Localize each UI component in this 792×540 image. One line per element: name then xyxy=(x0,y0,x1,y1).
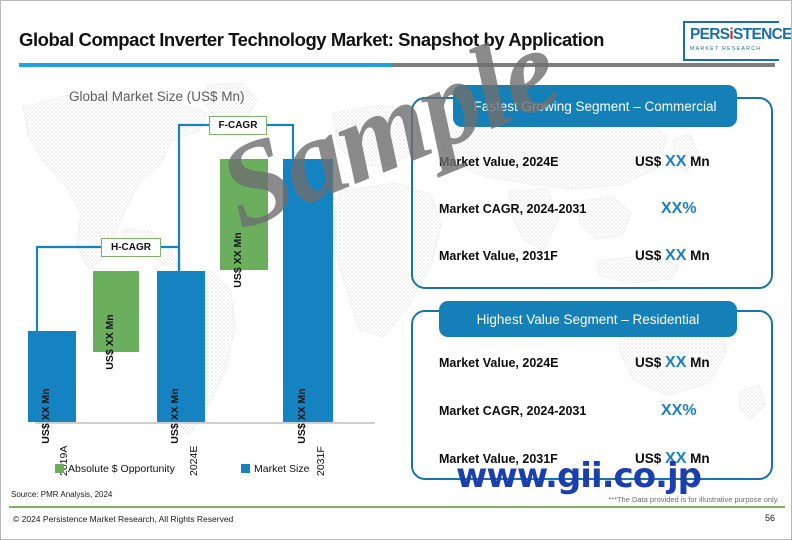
row-value-number: XX xyxy=(665,153,686,170)
page-number: 56 xyxy=(765,513,775,523)
copyright-note: © 2024 Persistence Market Research, All … xyxy=(13,514,233,524)
disclaimer-note: ***The Data provided is for illustrative… xyxy=(608,495,779,504)
logo-tagline: MARKET RESEARCH xyxy=(690,46,779,52)
row-value-suffix: Mn xyxy=(686,154,709,169)
cagr-connectors xyxy=(13,81,403,481)
row-value: XX% xyxy=(661,402,697,420)
row-value-prefix: US$ xyxy=(635,248,665,263)
persistence-market-research-logo: PERSiSTENCE MARKET RESEARCH xyxy=(683,21,779,61)
row-value-number: XX% xyxy=(661,200,697,217)
footer-rule xyxy=(9,506,785,508)
panel-row: Market Value, 2024E US$ XX Mn xyxy=(413,151,771,173)
panel-header-fastest-growing-segment: Fastest Growing Segment – Commercial xyxy=(453,85,737,127)
row-label: Market CAGR, 2024-2031 xyxy=(439,202,586,216)
row-value: XX% xyxy=(661,200,697,218)
page-title: Global Compact Inverter Technology Marke… xyxy=(19,29,679,51)
row-value-prefix: US$ xyxy=(635,355,665,370)
row-label: Market Value, 2024E xyxy=(439,356,559,370)
row-label: Market Value, 2031F xyxy=(439,249,558,263)
row-value-prefix: US$ xyxy=(635,154,665,169)
logo-wordmark: PERSiSTENCE xyxy=(690,25,779,44)
row-value: US$ XX Mn xyxy=(635,153,710,171)
panel-header-highest-value-segment: Highest Value Segment – Residential xyxy=(439,301,737,337)
slide-canvas: Global Compact Inverter Technology Marke… xyxy=(0,0,792,540)
gii-site-watermark: www.gii.co.jp xyxy=(456,456,701,496)
row-value-suffix: Mn xyxy=(686,248,709,263)
row-value: US$ XX Mn xyxy=(635,247,710,265)
h-cagr-callout: H-CAGR xyxy=(101,238,161,257)
logo-word-part1: PERS xyxy=(690,26,729,43)
row-value-number: XX% xyxy=(661,402,697,419)
row-label: Market Value, 2024E xyxy=(439,155,559,169)
panel-row: Market Value, 2031F US$ XX Mn xyxy=(413,245,771,267)
row-value: US$ XX Mn xyxy=(635,354,710,372)
row-value-number: XX xyxy=(665,354,686,371)
row-value-suffix: Mn xyxy=(686,355,709,370)
panel-row: Market Value, 2024E US$ XX Mn xyxy=(413,352,771,374)
row-value-number: XX xyxy=(665,247,686,264)
f-cagr-callout: F-CAGR xyxy=(209,116,267,135)
header-rule-blue xyxy=(19,63,391,67)
header-rule-gray xyxy=(391,63,775,67)
panel-row: Market CAGR, 2024-2031 XX% xyxy=(413,198,771,220)
bar-chart: Global Market Size (US$ Mn) US$ XX Mn US… xyxy=(13,81,403,481)
panel-row: Market CAGR, 2024-2031 XX% xyxy=(413,400,771,422)
logo-word-part2: STENCE xyxy=(733,26,792,43)
source-note: Source: PMR Analysis, 2024 xyxy=(11,490,112,499)
row-label: Market CAGR, 2024-2031 xyxy=(439,404,586,418)
